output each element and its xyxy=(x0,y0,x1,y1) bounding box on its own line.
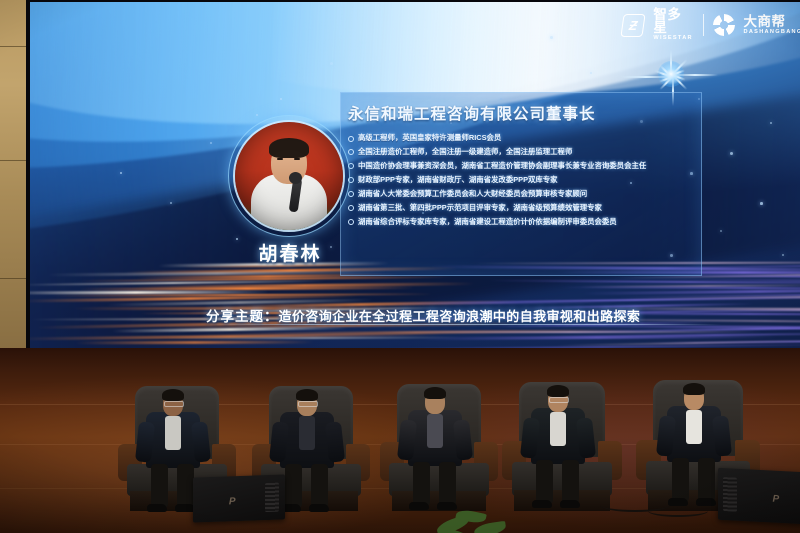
sparkle-dot xyxy=(330,62,333,65)
speaker-grille xyxy=(265,483,280,512)
panelist-leg xyxy=(536,460,553,504)
panelist-leg xyxy=(698,458,715,502)
panelist-hair xyxy=(683,383,705,395)
light-streak xyxy=(167,336,462,339)
panelist-shirt xyxy=(427,414,443,448)
panelist-shoe xyxy=(409,502,429,510)
starburst-rays-icon xyxy=(671,74,673,76)
panelist-arm xyxy=(325,421,345,462)
panelist-shirt xyxy=(686,410,702,444)
panelist-shirt xyxy=(165,416,181,450)
bio-bullet-text: 中国造价协会理事兼资深会员，湖南省工程造价管理协会副理事长兼专业咨询委员会主任 xyxy=(358,160,700,172)
stage-cable xyxy=(648,505,708,517)
panelist-shoe xyxy=(560,500,580,508)
panelist-leg xyxy=(439,462,456,506)
wisestar-name-cn: 智多星 xyxy=(653,8,694,34)
sparkle-dot xyxy=(170,202,172,204)
bullet-marker-icon xyxy=(348,149,354,155)
speaker-name: 胡春林 xyxy=(235,239,345,266)
sparkle-dot xyxy=(360,44,362,46)
panelist-leg xyxy=(285,464,302,508)
panelist-hair xyxy=(424,387,446,399)
speaker-brand-logo: P xyxy=(224,496,240,509)
panelist-leg xyxy=(177,464,194,508)
panelist-leg xyxy=(672,458,689,502)
bio-bullet-text: 高级工程师，英国皇家特许测量师RICS会员 xyxy=(358,132,700,144)
bio-bullet-item: 湖南省人大常委会预算工作委员会和人大财经委员会预算审核专家顾问 xyxy=(348,188,700,200)
panelist-4 xyxy=(502,382,622,511)
sparkle-dot xyxy=(770,122,772,124)
panelist-shoe xyxy=(696,498,716,506)
panelist-leg xyxy=(562,460,579,504)
bio-bullet-text: 全国注册造价工程师，全国注册一级建造师，全国注册监理工程师 xyxy=(358,146,700,158)
speaker-brand-logo: P xyxy=(768,493,784,506)
speaker-portrait xyxy=(235,122,343,230)
bio-bullet-text: 湖南省综合评标专家库专家，湖南省建设工程造价计价依据编制评审委员会委员 xyxy=(358,216,700,228)
panelist-arm xyxy=(191,421,211,462)
flower-swirl-icon xyxy=(713,14,734,36)
stage-monitor-speaker-right: P xyxy=(718,468,800,525)
panelist-hair xyxy=(162,389,184,401)
sparkle-dot xyxy=(210,142,212,144)
bio-bullet-item: 全国注册造价工程师，全国注册一级建造师，全国注册监理工程师 xyxy=(348,146,700,158)
bullet-marker-icon xyxy=(348,191,354,197)
panelist-hair xyxy=(547,385,569,397)
stage-monitor-speaker-left: P xyxy=(193,474,285,522)
bullet-marker-icon xyxy=(348,205,354,211)
panelist-hair xyxy=(296,389,318,401)
panelist-leg xyxy=(413,462,430,506)
wisestar-name-en: WISESTAR xyxy=(653,34,694,42)
light-streak xyxy=(375,331,763,333)
sparkle-dot xyxy=(760,202,763,205)
sparkle-dot xyxy=(782,254,784,256)
bio-bullet-text: 财政部PPP专家，湖南省财政厅、湖南省发改委PPP双库专家 xyxy=(358,174,700,186)
bio-bullet-text: 湖南省第三批、第四批PPP示范项目评审专家，湖南省级预算绩效管理专家 xyxy=(358,202,700,214)
sparkle-dot xyxy=(256,114,258,116)
panelist-leg xyxy=(311,464,328,508)
wisestar-logo: 智多星 WISESTAR xyxy=(653,8,694,42)
light-streak xyxy=(418,335,777,341)
bullet-marker-icon xyxy=(348,219,354,225)
sparkle-dot xyxy=(550,36,553,39)
panelist-shoe xyxy=(309,504,329,512)
wisestar-monogram-icon: Ƶ xyxy=(620,14,646,37)
bio-bullet-item: 高级工程师，英国皇家特许测量师RICS会员 xyxy=(348,132,700,144)
panelist-figure xyxy=(380,384,498,511)
panelist-shirt xyxy=(550,412,566,446)
portrait-vignette xyxy=(235,122,343,230)
light-streak xyxy=(370,300,622,304)
dashangbang-name-cn: 大商帮 xyxy=(744,15,800,28)
bio-bullet-item: 湖南省综合评标专家库专家，湖南省建设工程造价计价依据编制评审委员会委员 xyxy=(348,216,700,228)
panelist-glasses-icon xyxy=(164,401,184,407)
speaker-grille xyxy=(723,477,737,511)
panelist-glasses-icon xyxy=(549,397,569,403)
panelist-arm xyxy=(453,419,473,460)
session-theme-value: 造价咨询企业在全过程工程咨询浪潮中的自我审视和出路探索 xyxy=(279,306,641,325)
sparkle-dot xyxy=(280,98,282,100)
sparkle-dot xyxy=(720,230,722,232)
panelist-leg xyxy=(151,464,168,508)
panelist-glasses-icon xyxy=(298,401,318,407)
bio-bullet-item: 财政部PPP专家，湖南省财政厅、湖南省发改委PPP双库专家 xyxy=(348,174,700,186)
session-theme: 分享主题： 造价咨询企业在全过程工程咨询浪潮中的自我审视和出路探索 xyxy=(206,305,726,325)
bullet-marker-icon xyxy=(348,136,354,142)
panelist-arm xyxy=(712,415,732,456)
session-theme-label: 分享主题： xyxy=(206,305,279,325)
panelist-shirt xyxy=(299,416,315,450)
panelist-3 xyxy=(380,384,498,511)
potted-plant xyxy=(430,505,550,533)
logo-divider xyxy=(703,14,704,36)
bio-bullet-text: 湖南省人大常委会预算工作委员会和人大财经委员会预算审核专家顾问 xyxy=(358,188,700,200)
sparkle-dot xyxy=(730,152,733,155)
sponsor-logos: Ƶ 智多星 WISESTAR 大商帮 DASHANGBANG xyxy=(622,10,800,40)
dashangbang-name-en: DASHANGBANG xyxy=(744,28,800,36)
conference-photo: Ƶ 智多星 WISESTAR 大商帮 DASHANGBANG 永信和瑞工程咨询有… xyxy=(0,0,800,533)
panelist-arm xyxy=(576,417,596,458)
dashangbang-logo: 大商帮 DASHANGBANG xyxy=(744,15,800,36)
led-screen: Ƶ 智多星 WISESTAR 大商帮 DASHANGBANG 永信和瑞工程咨询有… xyxy=(30,2,800,348)
portrait-photo xyxy=(235,122,343,230)
sparkle-dot xyxy=(590,72,592,74)
bio-bullet-item: 湖南省第三批、第四批PPP示范项目评审专家，湖南省级预算绩效管理专家 xyxy=(348,202,700,214)
panelist-shoe xyxy=(147,504,167,512)
sparkle-dot xyxy=(120,172,122,174)
light-streak xyxy=(75,340,314,344)
bio-bullet-list: 高级工程师，英国皇家特许测量师RICS会员全国注册造价工程师，全国注册一级建造师… xyxy=(348,132,700,230)
bio-bullet-item: 中国造价协会理事兼资深会员，湖南省工程造价管理协会副理事长兼专业咨询委员会主任 xyxy=(348,160,700,172)
panelist-figure xyxy=(502,382,622,511)
slide-title: 永信和瑞工程咨询有限公司董事长 xyxy=(348,102,698,124)
session-theme-underline xyxy=(206,324,722,325)
